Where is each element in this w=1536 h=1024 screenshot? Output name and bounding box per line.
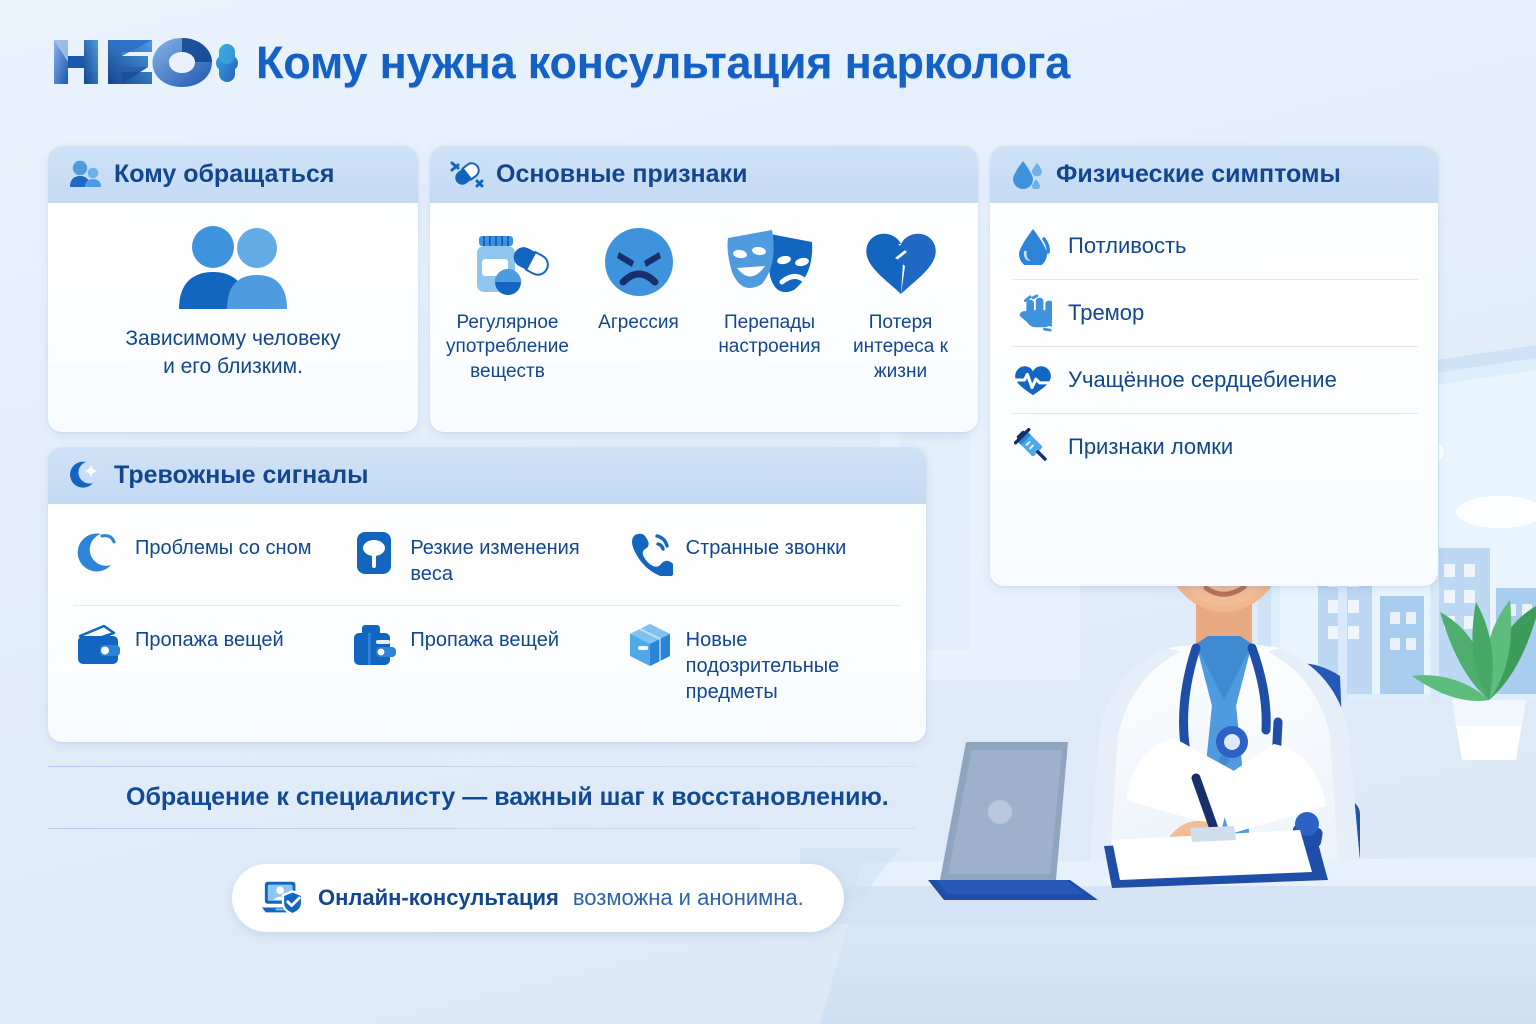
card-who-title: Кому обращаться — [114, 160, 335, 189]
broken-heart-icon — [862, 219, 940, 305]
page-title: Кому нужна консультация нарколога — [256, 37, 1070, 89]
sign-label: Агрессия — [598, 311, 679, 335]
card-who-text-line2: и его близким. — [125, 353, 340, 381]
list-item-label: Потливость — [1068, 232, 1187, 261]
card-alarm-title: Тревожные сигналы — [114, 461, 368, 490]
wallet-icon — [76, 622, 122, 668]
card-physical-title: Физические симптомы — [1056, 160, 1341, 189]
alarm-item: Странные звонки — [625, 514, 900, 606]
sign-item: Агрессия — [575, 219, 702, 335]
list-item-label: Учащённое сердцебиение — [1068, 366, 1337, 395]
trembling-hand-icon — [1014, 294, 1052, 332]
sign-item: Перепады настроения — [706, 219, 833, 360]
pill-regular-text: возможна и анонимна. — [573, 885, 804, 911]
heartbeat-icon — [1014, 361, 1052, 399]
alarm-label: Пропажа вещей — [410, 622, 559, 653]
neo-plus-logo-icon — [48, 34, 238, 92]
card-signs-body: Регулярное употребление веществ Агрессия — [430, 203, 978, 432]
pill-strong-text: Онлайн-консультация — [318, 885, 559, 911]
water-drops-icon — [1010, 157, 1044, 191]
card-main-signs: Основные признаки — [430, 146, 978, 432]
card-signs-title: Основные признаки — [496, 160, 747, 189]
tagline-text: Обращение к специалисту — важный шаг к в… — [48, 767, 916, 828]
sign-item: Потеря интереса к жизни — [837, 219, 964, 384]
card-who-to-contact: Кому обращаться Зависимому человеку и ег… — [48, 146, 418, 432]
sign-label: Регулярное употребление веществ — [444, 311, 571, 384]
list-item: Признаки ломки — [1012, 414, 1418, 480]
tagline-block: Обращение к специалисту — важный шаг к в… — [48, 766, 916, 829]
card-alarm-signals: Тревожные сигналы Проблемы со сном — [48, 447, 926, 742]
alarm-label: Новые подозрительные предметы — [686, 622, 890, 705]
weight-scale-icon — [351, 530, 397, 576]
ringing-phone-icon — [627, 530, 673, 576]
signs-grid: Регулярное употребление веществ Агрессия — [444, 219, 964, 384]
briefcase-icon — [351, 622, 397, 668]
people-icon — [68, 157, 102, 191]
alarm-label: Резкие изменения веса — [410, 530, 614, 587]
card-alarm-header: Тревожные сигналы — [48, 447, 926, 504]
brand-logo — [48, 34, 238, 92]
alarm-item: Проблемы со сном — [74, 514, 349, 606]
list-item: Тремор — [1012, 280, 1418, 347]
online-consultation-pill[interactable]: Онлайн-консультация возможна и анонимна. — [232, 864, 844, 932]
package-box-icon — [627, 622, 673, 668]
alarm-item: Резкие изменения веса — [349, 514, 624, 606]
pill-bottle-icon — [467, 219, 549, 305]
card-alarm-body: Проблемы со сном Резкие изменения веса — [48, 504, 926, 742]
crescent-moon-icon — [68, 458, 102, 492]
sign-label: Перепады настроения — [706, 311, 833, 360]
card-physical-symptoms: Физические симптомы Потливость — [990, 146, 1438, 586]
card-physical-body: Потливость Тремор Уча — [990, 203, 1438, 586]
page-header: Кому нужна консультация нарколога — [48, 34, 1070, 92]
alarm-item: Пропажа вещей — [349, 606, 624, 721]
card-who-body: Зависимому человеку и его близким. — [48, 203, 418, 432]
divider-bottom — [48, 828, 916, 829]
card-who-text: Зависимому человеку и его близким. — [125, 325, 340, 381]
alarm-grid: Проблемы со сном Резкие изменения веса — [74, 514, 900, 721]
pills-icon — [450, 157, 484, 191]
alarm-label: Пропажа вещей — [135, 622, 284, 653]
card-physical-header: Физические симптомы — [990, 146, 1438, 203]
list-item: Учащённое сердцебиение — [1012, 347, 1418, 414]
list-item: Потливость — [1012, 213, 1418, 280]
list-item-label: Тремор — [1068, 299, 1144, 328]
alarm-label: Странные звонки — [686, 530, 847, 561]
moon-stars-icon — [76, 530, 122, 576]
laptop-verified-icon — [262, 877, 304, 919]
angry-face-icon — [601, 219, 677, 305]
alarm-item: Пропажа вещей — [74, 606, 349, 721]
sign-label: Потеря интереса к жизни — [837, 311, 964, 384]
card-who-text-line1: Зависимому человеку — [125, 325, 340, 353]
theater-masks-icon — [724, 219, 816, 305]
list-item-label: Признаки ломки — [1068, 433, 1233, 462]
two-people-icon — [169, 225, 297, 309]
card-who-header: Кому обращаться — [48, 146, 418, 203]
alarm-label: Проблемы со сном — [135, 530, 311, 561]
water-drop-icon — [1014, 227, 1052, 265]
alarm-item: Новые подозрительные предметы — [625, 606, 900, 721]
sign-item: Регулярное употребление веществ — [444, 219, 571, 384]
card-signs-header: Основные признаки — [430, 146, 978, 203]
syringe-icon — [1014, 428, 1052, 466]
